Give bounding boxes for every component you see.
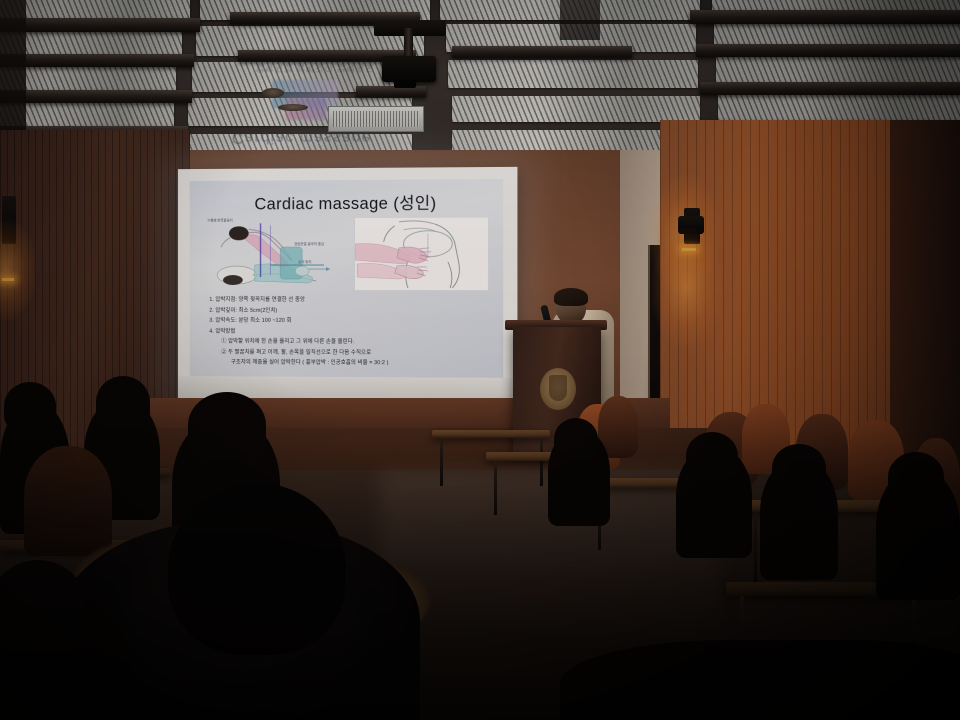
sconce-light-strip [682, 248, 696, 251]
sconce-light-strip [2, 278, 14, 281]
ceiling-beam [0, 18, 200, 32]
presenter-hair [554, 288, 588, 306]
desk [432, 430, 550, 438]
slide-content: Cardiac massage (성인) [190, 179, 504, 378]
projector-lens-icon [394, 80, 416, 88]
slide-sub-bullet: 구조자의 체중을 실어 압박한다 ( 흉부압박 : 인공호흡의 비율 = 30:… [231, 358, 495, 370]
figure-caption: 누를때 한쪽팔꿈치 [207, 217, 232, 222]
foreground-attendee-head [0, 560, 86, 650]
slide-figures: 누를때 한쪽팔꿈치 엉덩관절 굴곡의 중심 손의 위치 [203, 216, 489, 291]
ceiling-lamp [262, 88, 284, 98]
ceiling-beam [0, 90, 192, 103]
ceiling-beam [0, 54, 194, 67]
figure-caption: 손의 위치 [298, 259, 311, 264]
projection-screen: Cardiac massage (성인) [178, 167, 518, 404]
attendee-head [686, 432, 738, 480]
lecture-hall-photo: Cardiac massage 압박지점 압박깊이 압박속도 Cardiac m… [0, 0, 960, 720]
podium-emblem [540, 368, 576, 410]
desk-leg [540, 438, 543, 486]
ceiling-lamp [278, 104, 308, 111]
attendee-head [554, 418, 598, 460]
ceiling-panel [0, 100, 174, 128]
slide-bullet-list: 1. 압박지점: 양쪽 젖꼭지를 연결한 선 중앙 2. 압박깊이: 최소 5c… [209, 295, 495, 370]
cpr-side-view-svg [203, 217, 350, 291]
ceiling-air-vent [328, 106, 424, 132]
attendee [24, 446, 112, 556]
rescuer-side-view-diagram: 누를때 한쪽팔꿈치 엉덩관절 굴곡의 중심 손의 위치 [203, 217, 350, 291]
attendee-head [96, 376, 150, 428]
desk-leg [494, 461, 497, 515]
slide-bullet: 3. 압박속도: 분당 최소 100 ~120 회 [209, 316, 495, 327]
ceiling-beam [690, 10, 960, 24]
attendee-head [188, 392, 266, 458]
foreground-attendee-head [168, 483, 346, 655]
wall-sconce-shade [678, 216, 704, 234]
ceiling-beam [700, 82, 960, 95]
slide-bullet: 1. 압박지점: 양쪽 젖꼭지를 연결한 선 중앙 [209, 295, 495, 306]
foreground-mass [560, 640, 960, 720]
hand-placement-svg [355, 217, 488, 290]
desk-leg [440, 438, 443, 486]
attendee-head [888, 452, 944, 502]
ceiling-projector [382, 56, 436, 82]
ceiling-panel [0, 64, 176, 92]
wall-sconce [2, 196, 16, 244]
ceiling-beam [356, 86, 426, 97]
slide-sub-bullet: ① 압박할 위치에 한 손을 올리고 그 위에 다른 손을 올린다. [221, 337, 495, 348]
ceiling-slide-reflection-sub: 압박지점 압박깊이 압박속도 [256, 62, 374, 75]
ceiling-beam [696, 44, 960, 57]
desk-leg [754, 512, 757, 582]
ceiling-panel [448, 60, 698, 88]
figure-caption: 엉덩관절 굴곡의 중심 [294, 241, 324, 246]
ceiling-beam [452, 46, 632, 58]
ceiling-recess [560, 0, 600, 40]
attendee-head [772, 444, 826, 492]
ceiling-panel [718, 92, 960, 120]
ceiling-panel [716, 56, 960, 84]
ceiling-panel [452, 96, 700, 122]
slide-bullet: 2. 압박깊이: 최소 5cm(2인치) [209, 305, 495, 316]
slide-title: Cardiac massage (성인) [198, 189, 496, 214]
hand-placement-diagram [354, 216, 489, 291]
attendee-head [4, 382, 56, 430]
